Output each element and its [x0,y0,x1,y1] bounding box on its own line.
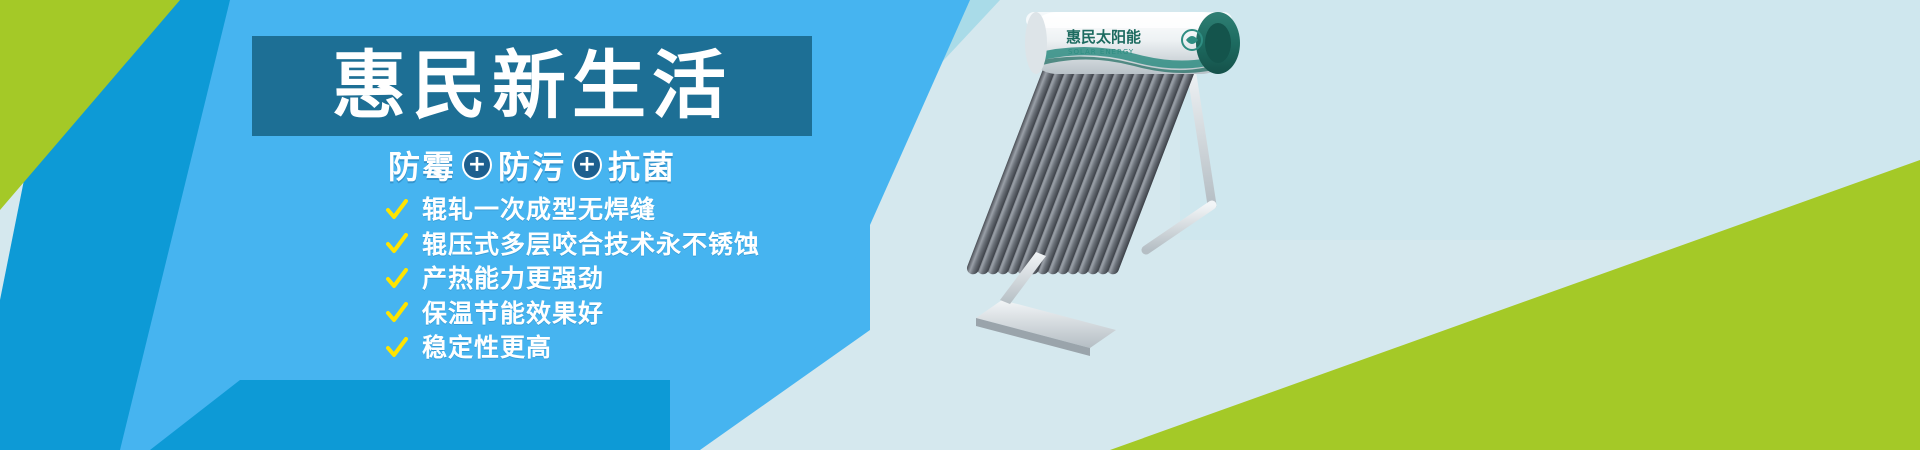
promo-banner: 惠民太阳能 SOLAR ENERGY 惠民新生活 防霉 + 防污 + 抗菌 辊轧… [0,0,1920,450]
subtitle-row: 防霉 + 防污 + 抗菌 [252,142,812,188]
background-shape-blue-bottom-left [150,380,670,450]
feature-label: 辊压式多层咬合技术永不锈蚀 [422,231,760,259]
svg-text:SOLAR ENERGY: SOLAR ENERGY [1068,48,1134,56]
svg-text:惠民太阳能: 惠民太阳能 [1066,28,1141,46]
feature-label: 产热能力更强劲 [422,265,604,293]
feature-label: 稳定性更高 [422,334,552,362]
list-item: 稳定性更高 [386,334,806,362]
solar-water-heater-photo: 惠民太阳能 SOLAR ENERGY [940,0,1270,360]
list-item: 辊压式多层咬合技术永不锈蚀 [386,231,806,259]
feature-label: 辊轧一次成型无焊缝 [422,196,656,224]
plus-icon: + [464,152,490,178]
subtitle-word-1: 防霉 [388,142,456,188]
headline-box: 惠民新生活 [252,36,812,136]
list-item: 保温节能效果好 [386,300,806,328]
subtitle-word-2: 防污 [498,142,566,188]
feature-label: 保温节能效果好 [422,300,604,328]
check-icon [386,268,408,290]
list-item: 辊轧一次成型无焊缝 [386,196,806,224]
page-title: 惠民新生活 [332,49,732,123]
list-item: 产热能力更强劲 [386,265,806,293]
feature-list: 辊轧一次成型无焊缝 辊压式多层咬合技术永不锈蚀 产热能力更强劲 [386,196,806,362]
check-icon [386,302,408,324]
subtitle-word-3: 抗菌 [608,142,676,188]
check-icon [386,233,408,255]
check-icon [386,337,408,359]
check-icon [386,199,408,221]
plus-icon: + [574,152,600,178]
